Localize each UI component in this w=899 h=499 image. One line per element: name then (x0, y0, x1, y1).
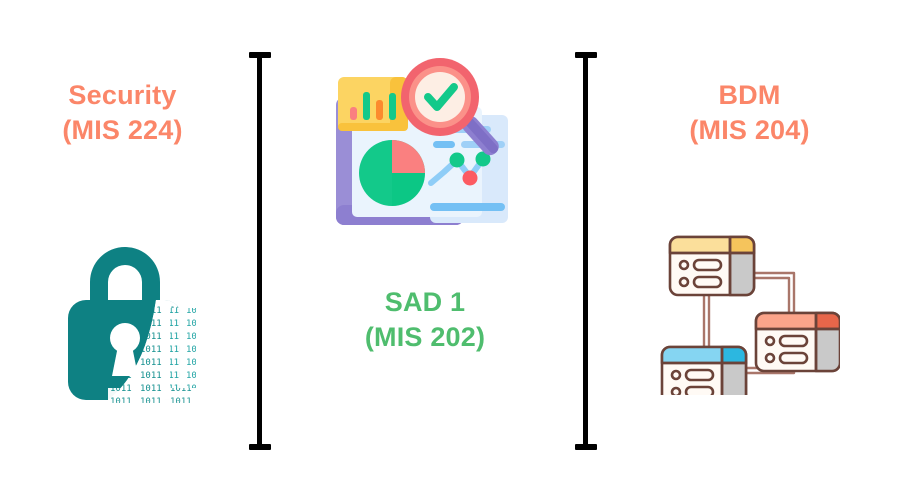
padlock-binary-icon: 1011 10011 (50, 238, 200, 408)
label-security: Security (MIS 224) (0, 78, 245, 147)
analytics-dashboard-icon (330, 55, 525, 240)
label-security-code: (MIS 224) (0, 113, 245, 148)
label-bdm-title: BDM (600, 78, 899, 113)
label-bdm: BDM (MIS 204) (600, 78, 899, 147)
divider-2 (575, 52, 597, 450)
label-sad1: SAD 1 (MIS 202) (280, 285, 570, 354)
divider-1-bottom-cap (249, 444, 271, 450)
label-sad1-code: (MIS 202) (280, 320, 570, 355)
label-bdm-code: (MIS 204) (600, 113, 899, 148)
column-security: Security (MIS 224) 1011 10011 (0, 0, 245, 499)
divider-1-stem (257, 52, 262, 450)
divider-1 (249, 52, 271, 450)
divider-2-bottom-cap (575, 444, 597, 450)
diagram-canvas: Security (MIS 224) 1011 10011 (0, 0, 899, 499)
database-network-icon (660, 215, 840, 400)
label-sad1-title: SAD 1 (280, 285, 570, 320)
label-security-title: Security (0, 78, 245, 113)
divider-2-stem (583, 52, 588, 450)
column-sad1: SAD 1 (MIS 202) (280, 0, 570, 499)
column-bdm: BDM (MIS 204) (600, 0, 899, 499)
